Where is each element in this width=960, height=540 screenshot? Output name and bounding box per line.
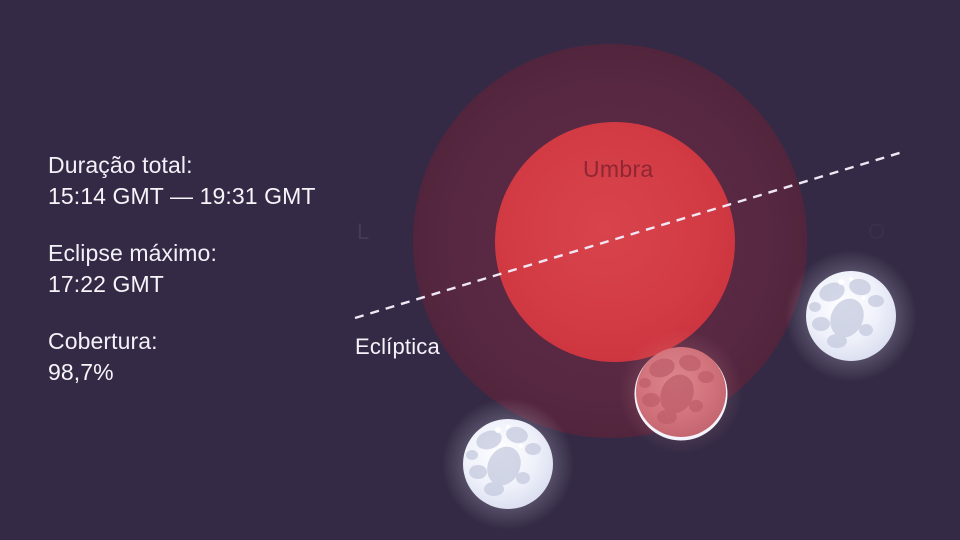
maximum-value: 17:22 GMT (48, 269, 378, 300)
moon-eclipsed (619, 330, 743, 454)
eclipse-diagram-scene: Umbra Eclíptica L O Duração total: 15:14… (0, 0, 960, 540)
umbra-label: Umbra (583, 156, 654, 183)
eclipse-info-panel: Duração total: 15:14 GMT — 19:31 GMT Ecl… (48, 150, 378, 388)
maximum-block: Eclipse máximo: 17:22 GMT (48, 238, 378, 300)
coverage-value: 98,7% (48, 357, 378, 388)
duration-block: Duração total: 15:14 GMT — 19:31 GMT (48, 150, 378, 212)
coverage-label: Cobertura: (48, 326, 378, 357)
moon-exiting (785, 250, 917, 382)
maximum-label: Eclipse máximo: (48, 238, 378, 269)
coverage-block: Cobertura: 98,7% (48, 326, 378, 388)
moon-entering (442, 398, 574, 530)
duration-label: Duração total: (48, 150, 378, 181)
duration-value: 15:14 GMT — 19:31 GMT (48, 181, 378, 212)
west-direction-label: O (868, 219, 886, 245)
